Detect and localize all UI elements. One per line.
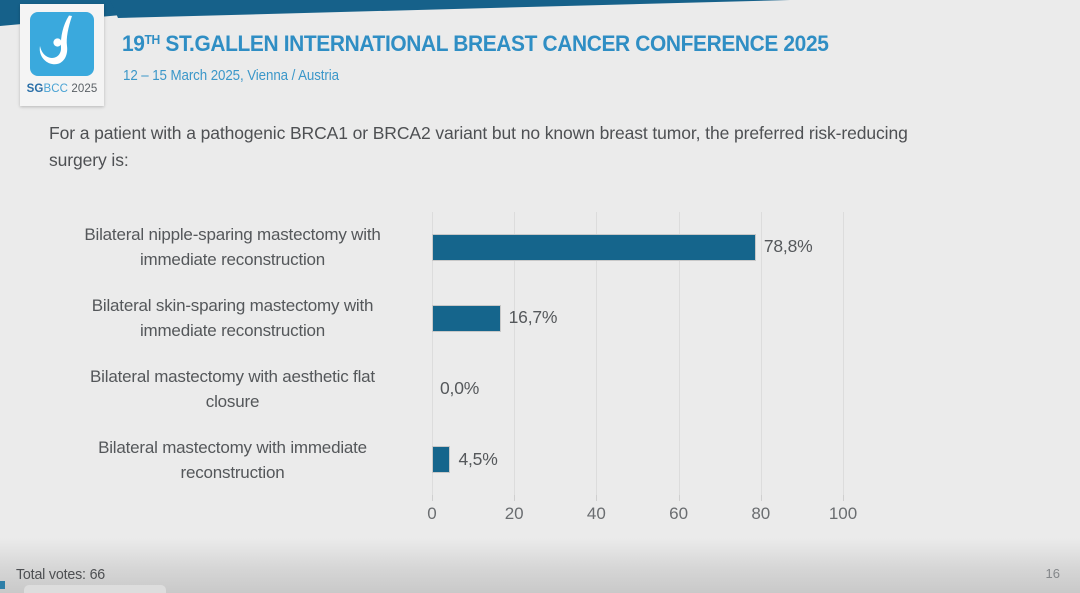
chart-x-tick-label: 40 bbox=[587, 504, 606, 524]
chart-bar bbox=[432, 305, 501, 332]
conference-title-superscript: TH bbox=[145, 32, 160, 47]
conference-title-prefix: 19 bbox=[122, 31, 145, 56]
chart-x-tick-mark bbox=[432, 495, 433, 501]
chart-x-tick-mark bbox=[596, 495, 597, 501]
chart-plot-area: 02040608010078,8%16,7%0,0%4,5% bbox=[432, 212, 843, 495]
chart-gridline bbox=[843, 212, 844, 495]
chart-x-tick-label: 20 bbox=[505, 504, 524, 524]
logo-wordmark-year: 2025 bbox=[68, 83, 97, 95]
chart-x-tick-label: 100 bbox=[829, 504, 857, 524]
conference-dates: 12 – 15 March 2025, Vienna / Austria bbox=[123, 68, 339, 84]
chart-x-tick-mark bbox=[514, 495, 515, 501]
chart-category-labels: Bilateral nipple-sparing mastectomy with… bbox=[40, 205, 425, 495]
chart-category-label: Bilateral skin-sparing mastectomy withim… bbox=[40, 293, 425, 343]
chart-x-tick-label: 60 bbox=[669, 504, 688, 524]
logo-wordmark-sg: SG bbox=[27, 83, 44, 95]
total-votes-label: Total votes: 66 bbox=[16, 566, 105, 583]
chart-x-tick-mark bbox=[679, 495, 680, 501]
chart-x-tick-label: 0 bbox=[427, 504, 436, 524]
conference-title: 19TH ST.GALLEN INTERNATIONAL BREAST CANC… bbox=[122, 31, 828, 57]
chart-bar bbox=[432, 446, 450, 473]
sgbcc-logo: SGBCC 2025 bbox=[20, 4, 104, 106]
chart-category-label: Bilateral mastectomy with immediaterecon… bbox=[40, 435, 425, 485]
logo-wordmark-bcc: BCC bbox=[43, 83, 68, 95]
logo-wordmark: SGBCC 2025 bbox=[27, 83, 98, 95]
chart-bar bbox=[432, 234, 756, 261]
header-banner-wedge bbox=[0, 0, 800, 30]
slide-footer: Total votes: 66 16 bbox=[0, 538, 1080, 593]
chart-bar-value-label: 78,8% bbox=[764, 236, 813, 257]
chart-bar-value-label: 4,5% bbox=[458, 449, 497, 470]
chart-category-label: Bilateral nipple-sparing mastectomy with… bbox=[40, 222, 425, 272]
slide-page-number: 16 bbox=[1046, 566, 1060, 581]
chart-category-label: Bilateral mastectomy with aesthetic flat… bbox=[40, 364, 425, 414]
chart-gridline bbox=[761, 212, 762, 495]
total-votes-highlight bbox=[24, 585, 166, 593]
chart-bar-value-label: 16,7% bbox=[509, 307, 558, 328]
poll-results-bar-chart: Bilateral nipple-sparing mastectomy with… bbox=[0, 205, 1080, 540]
chart-x-tick-label: 80 bbox=[751, 504, 770, 524]
footer-accent-tick bbox=[0, 581, 5, 589]
chart-bar-value-label: 0,0% bbox=[440, 378, 479, 399]
poll-question: For a patient with a pathogenic BRCA1 or… bbox=[49, 120, 929, 174]
sgbcc-breast-ribbon-icon bbox=[30, 12, 94, 76]
chart-x-tick-mark bbox=[843, 495, 844, 501]
conference-title-rest: ST.GALLEN INTERNATIONAL BREAST CANCER CO… bbox=[160, 31, 829, 56]
chart-x-tick-mark bbox=[761, 495, 762, 501]
